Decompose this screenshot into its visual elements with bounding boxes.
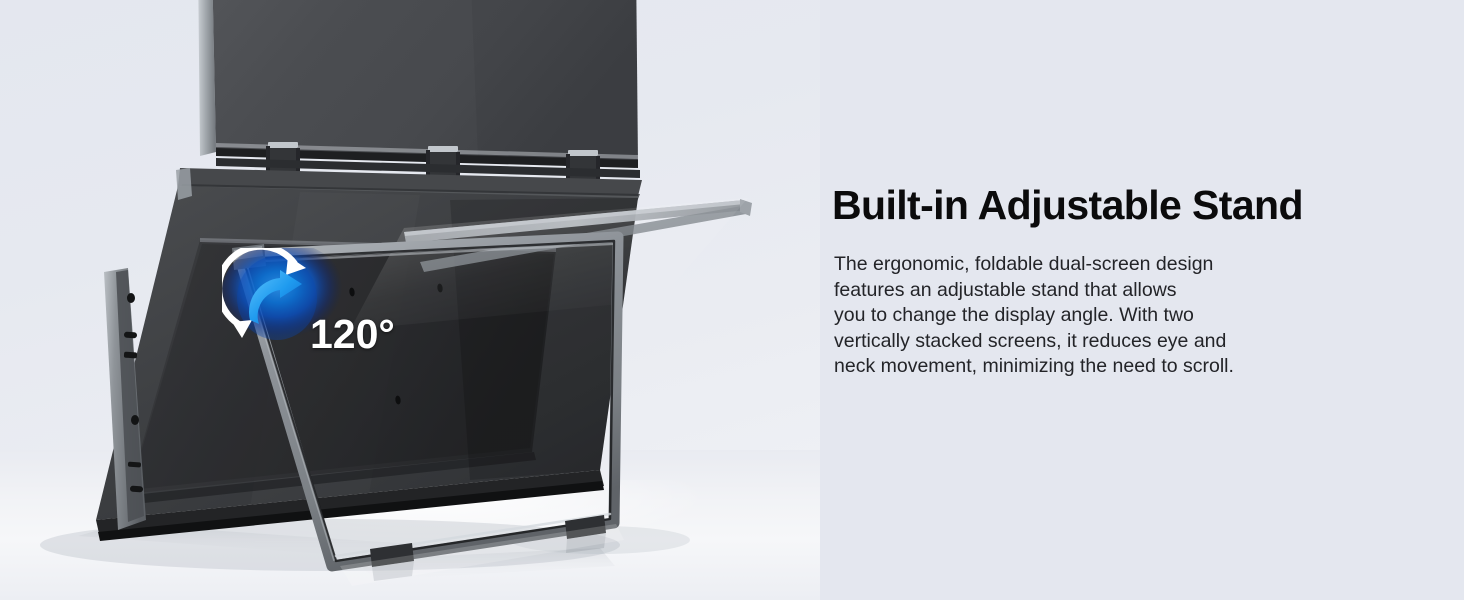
page-title: Built-in Adjustable Stand (832, 182, 1402, 228)
usb-c-port-2 (131, 415, 139, 425)
marketing-banner: 120° Built-in Adjustable Stand The ergon… (0, 0, 1464, 600)
angle-value-label: 120° (310, 312, 395, 356)
body-line: neck movement, minimizing the need to sc… (834, 354, 1402, 380)
upper-display-panel (198, 0, 638, 168)
extra-port (130, 486, 143, 493)
hdmi-port (124, 352, 137, 359)
angle-badge: 120° (222, 248, 422, 373)
power-button (128, 462, 141, 468)
usb-c-port (124, 332, 137, 339)
body-line: The ergonomic, foldable dual-screen desi… (834, 252, 1402, 278)
audio-jack-port (127, 293, 135, 303)
body-line: you to change the display angle. With tw… (834, 303, 1402, 329)
body-line: vertically stacked screens, it reduces e… (834, 329, 1402, 355)
body-line: features an adjustable stand that allows (834, 278, 1402, 304)
text-panel: Built-in Adjustable Stand The ergonomic,… (832, 182, 1402, 380)
body-copy: The ergonomic, foldable dual-screen desi… (834, 252, 1402, 380)
product-photo: 120° (0, 0, 820, 600)
